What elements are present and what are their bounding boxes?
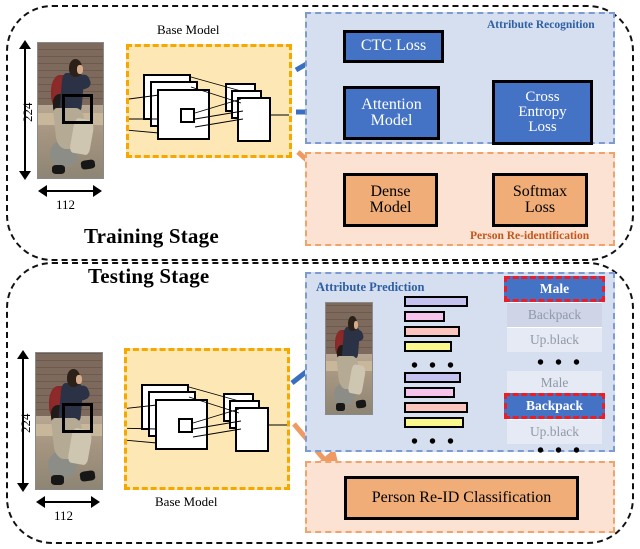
prediction-label-item[interactable]: Backpack [507,303,602,327]
person-reid-classification-node[interactable]: Person Re-ID Classification [344,476,579,520]
prediction-label-ellipsis-1: • • • [537,353,583,373]
attribute-recognition-panel-label: Attribute Recognition [487,19,595,31]
training-base-model-caption: Base Model [157,22,219,38]
person-reid-panel-label: Person Re-identification [470,230,589,242]
conv-connection-lines [129,47,295,161]
attribute-bars-ellipsis-2: • • • [411,432,457,452]
testing-stage-title: Testing Stage [88,264,209,289]
attribute-bar [404,387,455,398]
photo-shoe-left [51,475,64,485]
prediction-label-item[interactable]: Male [507,371,602,395]
testing-height-label: 224 [18,414,34,434]
training-height-label: 224 [20,103,36,123]
dense-model-node[interactable]: Dense Model [343,173,438,227]
prediction-label-item[interactable]: Backpack [504,393,605,419]
training-width-dimension-line [46,190,94,192]
attribute-bar [404,372,461,383]
attribute-prediction-thumbnail [325,302,373,415]
training-stage-title: Training Stage [84,224,219,249]
attribute-bar [404,417,464,428]
photo-shoe-left [336,403,345,411]
photo-face [76,375,82,385]
photo-face [77,65,83,74]
prediction-label-item[interactable]: Male [504,276,605,302]
ctc-loss-node[interactable]: CTC Loss [343,30,444,63]
photo-shoe-right [356,399,367,408]
training-width-label: 112 [56,197,75,213]
attribute-bar [404,296,468,307]
training-base-model-box [126,44,292,158]
photo-shoe-left [52,165,65,174]
testing-width-dimension-line [44,501,92,503]
attribute-bar [404,402,468,413]
testing-base-model-caption: Base Model [155,494,217,510]
attribute-bar [404,311,445,322]
attribute-bar [404,326,460,337]
attribute-bar [404,341,452,352]
training-crop-region [62,94,93,124]
testing-base-model-box [124,348,290,490]
softmax-loss-node[interactable]: Softmax Loss [492,173,588,227]
photo-face [354,321,358,329]
attention-model-node[interactable]: Attention Model [343,86,440,140]
prediction-label-group-2: Male Backpack Up.black [507,371,602,443]
attribute-prediction-panel-label: Attribute Prediction [316,280,424,295]
prediction-label-item[interactable]: Up.black [507,328,602,352]
conv-connection-lines [127,351,293,493]
prediction-label-group-1: Male Backpack Up.black [507,279,602,352]
prediction-label-ellipsis-2: • • • [537,441,583,461]
testing-width-label: 112 [54,508,73,524]
testing-crop-region [62,403,93,433]
cross-entropy-loss-node[interactable]: Cross Entropy Loss [492,80,593,145]
